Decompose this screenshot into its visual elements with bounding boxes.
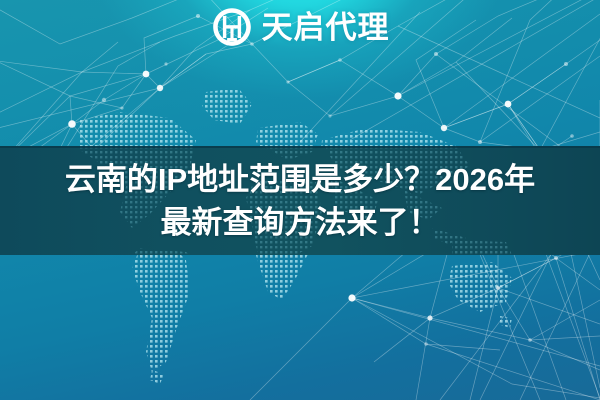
headline-line-2: 最新查询方法来了！ [161,201,440,244]
brand-name: 天启代理 [262,12,390,43]
tianqi-circle-h-emblem-icon [211,6,253,48]
headline-line-1: 云南的IP地址范围是多少？2026年 [65,158,535,201]
headline: 云南的IP地址范围是多少？2026年 最新查询方法来了！ [0,146,600,255]
title-band: 云南的IP地址范围是多少？2026年 最新查询方法来了！ [0,146,600,255]
brand-logo: 天启代理 [0,6,600,48]
promo-banner: 天启代理 [0,0,600,400]
